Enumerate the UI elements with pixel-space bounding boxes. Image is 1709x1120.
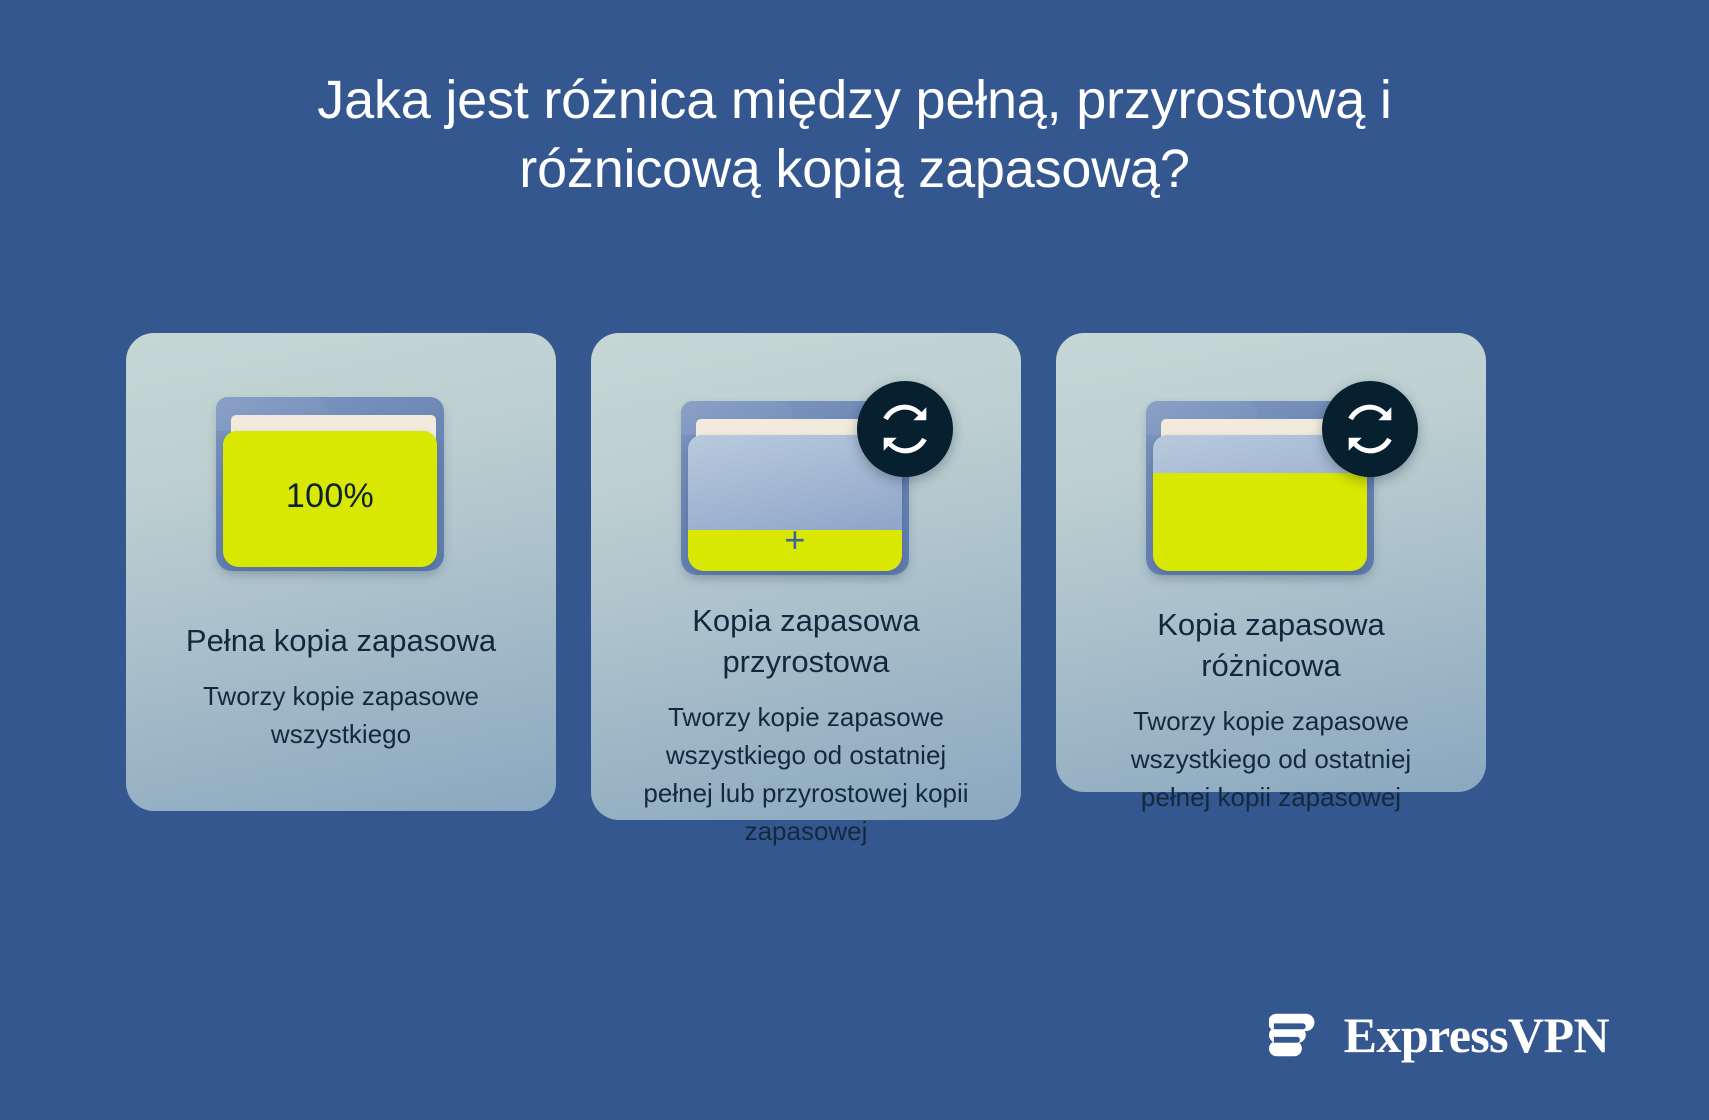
page-title: Jaka jest różnica między pełną, przyrost… [145,66,1565,204]
folder-front-icon: 100% [223,431,437,567]
card-title-incremental-backup: Kopia zapasowa przyrostowa [626,601,986,683]
folder-icon: 100% [216,385,444,571]
folder-percent-label: 100% [223,477,437,516]
folder-illustration-incremental: + [681,389,931,585]
sync-badge [857,381,953,477]
card-title-full-backup: Pełna kopia zapasowa [186,621,496,662]
card-description-differential-backup: Tworzy kopie zapasowe wszystkiego od ost… [1093,703,1449,817]
folder-illustration-differential [1146,389,1396,585]
expressvpn-wordmark: ExpressVPN [1344,1010,1609,1060]
card-incremental-backup: + Kopia zapasowa przyrostowa Tworzy kopi… [591,333,1021,820]
refresh-sync-icon [874,398,936,460]
refresh-sync-icon [1339,398,1401,460]
expressvpn-logo-icon [1269,1006,1327,1064]
card-description-incremental-backup: Tworzy kopie zapasowe wszystkiego od ost… [628,699,984,851]
card-full-backup: 100% Pełna kopia zapasowa Tworzy kopie z… [126,333,556,811]
card-description-full-backup: Tworzy kopie zapasowe wszystkiego [163,678,519,754]
page-title-line-2: różnicową kopią zapasową? [519,139,1189,199]
card-differential-backup: Kopia zapasowa różnicowa Tworzy kopie za… [1056,333,1486,792]
sync-badge [1322,381,1418,477]
page-title-line-1: Jaka jest różnica między pełną, przyrost… [317,70,1391,130]
folder-plus-label: + [688,519,902,561]
backup-type-card-row: 100% Pełna kopia zapasowa Tworzy kopie z… [126,333,1486,820]
folder-illustration-full: 100% [216,385,466,581]
card-title-differential-backup: Kopia zapasowa różnicowa [1091,605,1451,687]
expressvpn-logo: ExpressVPN [1269,1006,1609,1064]
folder-fill-indicator [1153,473,1367,571]
